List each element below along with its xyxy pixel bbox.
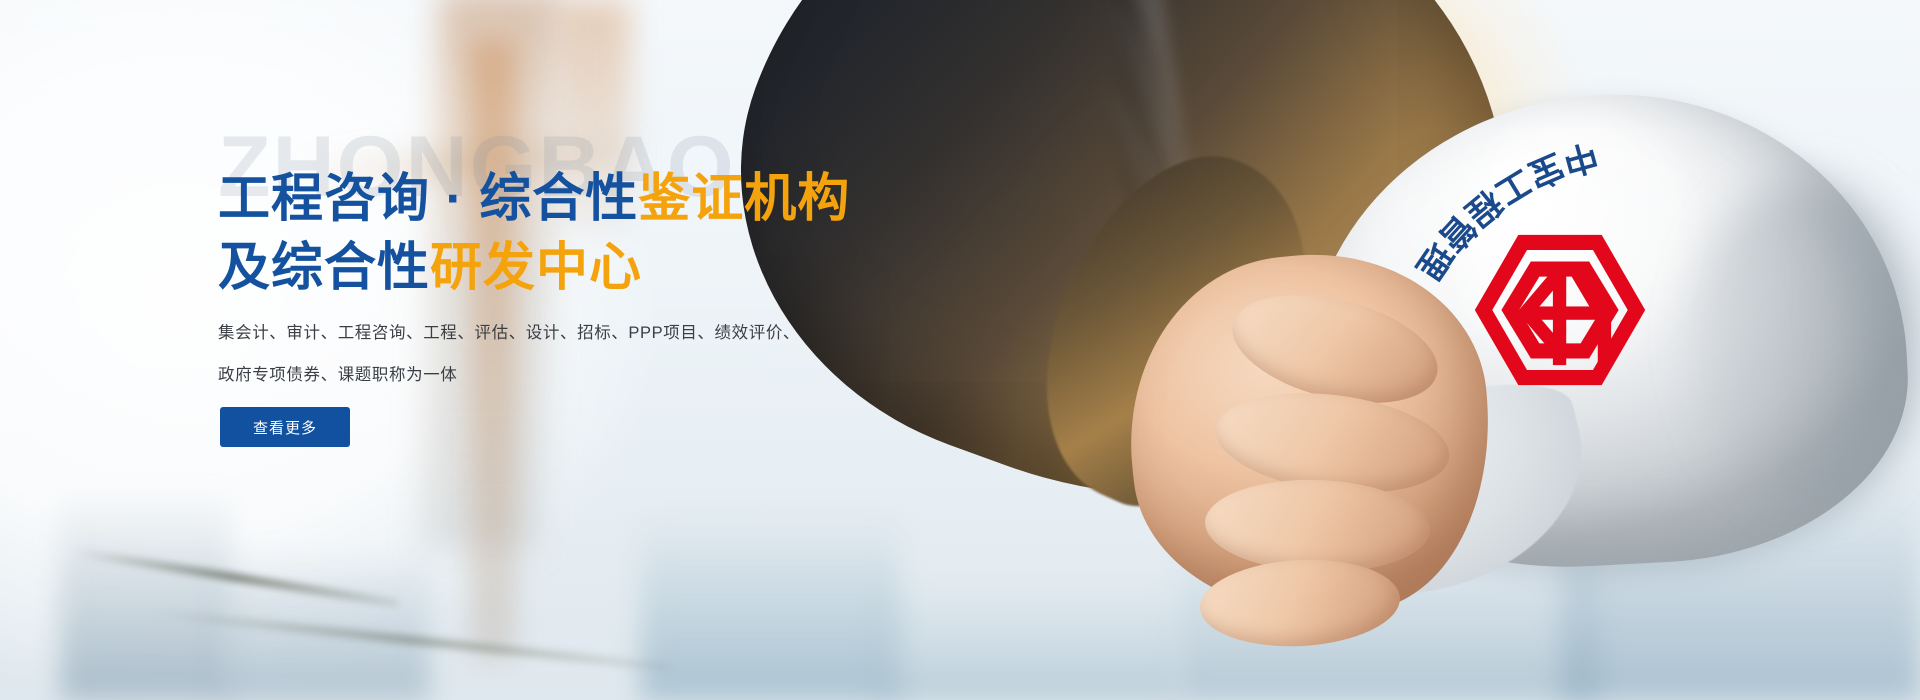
banner-description: 集会计、审计、工程咨询、工程、评估、设计、招标、PPP项目、绩效评价、 政府专项… [218,312,800,396]
headline-line2-orange: 研发中心 [430,239,642,297]
banner-headline: 工程咨询 · 综合性鉴证机构 及综合性研发中心 [218,165,850,302]
worker-photo: 中宝工程管理 [760,0,1920,700]
zhongbao-hexagon-logo-icon [1470,230,1650,390]
description-line-2: 政府专项债券、课题职称为一体 [218,354,800,396]
helmet-shadow [1690,180,1920,510]
description-line-1: 集会计、审计、工程咨询、工程、评估、设计、招标、PPP项目、绩效评价、 [218,312,800,354]
headline-line1-orange: 鉴证机构 [638,170,850,228]
hero-banner: 中宝工程管理 ZHONGBAO 工程咨询 · 综合性鉴证机构 [0,0,1920,700]
headline-line-1: 工程咨询 · 综合性鉴证机构 [218,165,850,234]
banner-content: ZHONGBAO 工程咨询 · 综合性鉴证机构 及综合性研发中心 集会计、审计、… [0,0,900,700]
headline-line2-blue: 及综合性 [218,239,430,297]
view-more-button[interactable]: 查看更多 [220,407,350,447]
headline-line1-blue: 工程咨询 · 综合性 [218,170,638,228]
headline-line-2: 及综合性研发中心 [218,234,850,303]
